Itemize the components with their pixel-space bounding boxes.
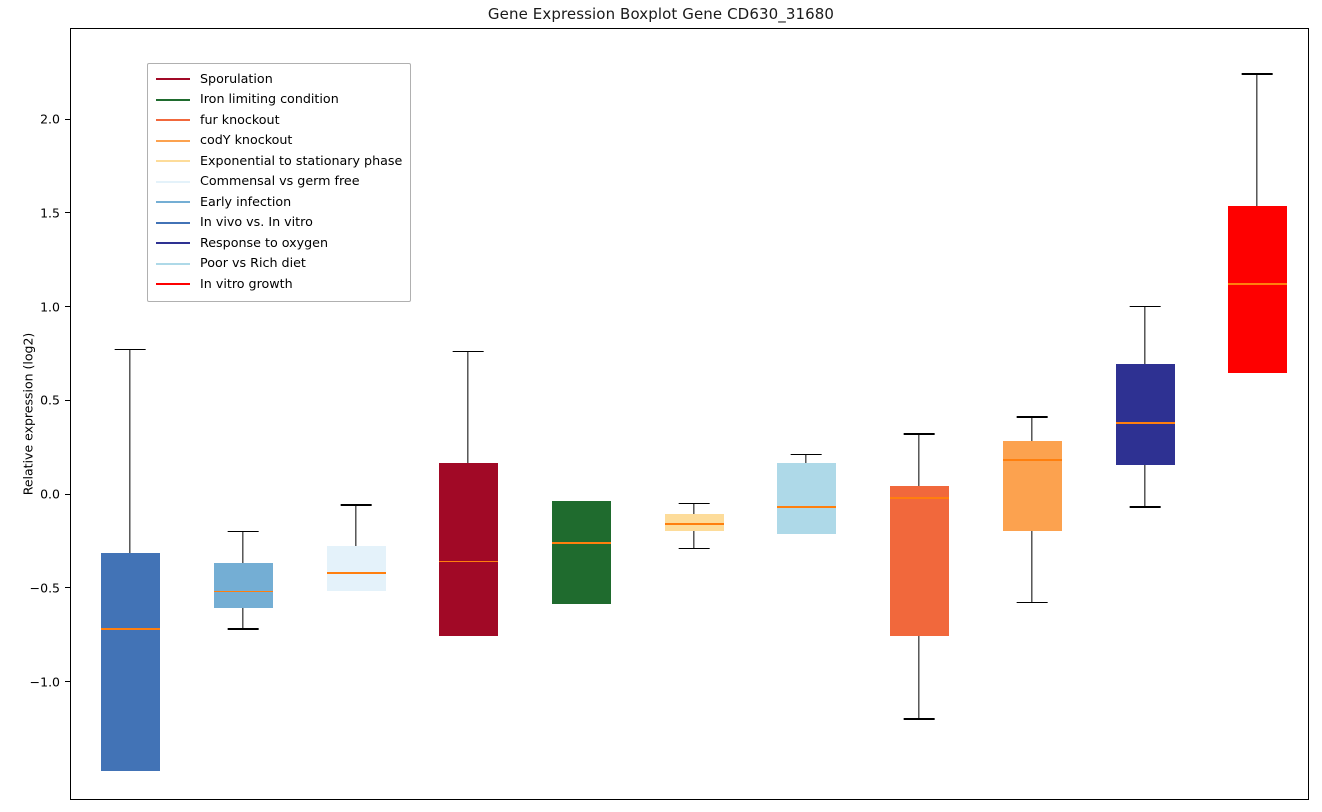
whisker-cap-upper xyxy=(1130,306,1161,308)
legend-label: In vitro growth xyxy=(200,278,293,291)
whisker-cap-upper xyxy=(453,351,484,353)
legend-item[interactable]: Sporulation xyxy=(156,69,402,90)
legend-label: Response to oxygen xyxy=(200,237,328,250)
boxplot-box[interactable] xyxy=(1003,29,1062,799)
whisker-cap-lower xyxy=(679,548,710,550)
box-rect xyxy=(777,463,836,534)
box-rect xyxy=(327,546,386,591)
legend-label: Sporulation xyxy=(200,73,273,86)
whisker-cap-upper xyxy=(228,531,259,533)
legend-color-swatch xyxy=(156,263,190,265)
y-tick-label: 2.0 xyxy=(40,112,60,127)
median-line xyxy=(214,591,273,593)
whisker-upper xyxy=(1256,73,1257,206)
whisker-cap-upper xyxy=(904,433,935,435)
whisker-upper xyxy=(1144,306,1145,364)
whisker-upper xyxy=(467,351,468,464)
whisker-upper xyxy=(129,349,130,553)
legend[interactable]: SporulationIron limiting conditionfur kn… xyxy=(147,63,411,302)
whisker-cap-lower xyxy=(1017,602,1048,604)
y-tick-label: 1.5 xyxy=(40,205,60,220)
legend-label: Exponential to stationary phase xyxy=(200,155,402,168)
median-line xyxy=(327,572,386,574)
whisker-cap-upper xyxy=(341,504,372,506)
whisker-lower xyxy=(1031,531,1032,602)
whisker-upper xyxy=(918,433,919,486)
median-line xyxy=(890,497,949,499)
whisker-cap-upper xyxy=(1242,73,1273,75)
legend-color-swatch xyxy=(156,119,190,121)
box-rect xyxy=(1116,364,1175,465)
legend-item[interactable]: fur knockout xyxy=(156,110,402,131)
legend-item[interactable]: codY knockout xyxy=(156,131,402,152)
legend-color-swatch xyxy=(156,140,190,142)
legend-item[interactable]: In vivo vs. In vitro xyxy=(156,213,402,234)
median-line xyxy=(1228,283,1287,285)
legend-label: Poor vs Rich diet xyxy=(200,257,306,270)
legend-item[interactable]: Poor vs Rich diet xyxy=(156,254,402,275)
box-rect xyxy=(214,563,273,608)
legend-item[interactable]: In vitro growth xyxy=(156,274,402,295)
legend-color-swatch xyxy=(156,160,190,162)
whisker-cap-upper xyxy=(679,503,710,505)
whisker-cap-upper xyxy=(1017,416,1048,418)
y-tick-label: 0.5 xyxy=(40,393,60,408)
legend-item[interactable]: Commensal vs germ free xyxy=(156,172,402,193)
legend-color-swatch xyxy=(156,283,190,285)
whisker-upper xyxy=(242,531,243,563)
legend-color-swatch xyxy=(156,242,190,244)
whisker-upper xyxy=(355,504,356,545)
median-line xyxy=(1116,422,1175,424)
legend-label: Early infection xyxy=(200,196,291,209)
whisker-lower xyxy=(693,531,694,548)
whisker-lower xyxy=(918,636,919,719)
legend-item[interactable]: Exponential to stationary phase xyxy=(156,151,402,172)
box-rect xyxy=(101,553,160,771)
y-axis-label: Relative expression (log2) xyxy=(21,333,36,496)
legend-label: In vivo vs. In vitro xyxy=(200,216,313,229)
legend-color-swatch xyxy=(156,181,190,183)
boxplot-figure: Gene Expression Boxplot Gene CD630_31680… xyxy=(0,0,1322,812)
legend-label: Commensal vs germ free xyxy=(200,175,360,188)
box-rect xyxy=(1003,441,1062,531)
median-line xyxy=(552,542,611,544)
boxplot-box[interactable] xyxy=(777,29,836,799)
legend-item[interactable]: Iron limiting condition xyxy=(156,90,402,111)
legend-color-swatch xyxy=(156,201,190,203)
median-line xyxy=(665,523,724,525)
whisker-cap-upper xyxy=(791,454,822,456)
box-rect xyxy=(552,501,611,604)
boxplot-box[interactable] xyxy=(1116,29,1175,799)
y-tick-label: 0.0 xyxy=(40,487,60,502)
boxplot-box[interactable] xyxy=(1228,29,1287,799)
median-line xyxy=(439,561,498,563)
legend-color-swatch xyxy=(156,78,190,80)
median-line xyxy=(101,628,160,630)
legend-item[interactable]: Response to oxygen xyxy=(156,233,402,254)
median-line xyxy=(1003,459,1062,461)
boxplot-box[interactable] xyxy=(890,29,949,799)
legend-color-swatch xyxy=(156,222,190,224)
whisker-cap-lower xyxy=(228,628,259,630)
legend-label: codY knockout xyxy=(200,134,292,147)
chart-title: Gene Expression Boxplot Gene CD630_31680 xyxy=(0,5,1322,23)
box-rect xyxy=(439,463,498,636)
box-rect xyxy=(665,514,724,531)
median-line xyxy=(777,506,836,508)
whisker-cap-upper xyxy=(115,349,146,351)
y-tick-label: 1.0 xyxy=(40,299,60,314)
boxplot-box[interactable] xyxy=(552,29,611,799)
whisker-lower xyxy=(1144,465,1145,506)
box-rect xyxy=(890,486,949,636)
whisker-cap-lower xyxy=(1130,506,1161,508)
whisker-lower xyxy=(242,608,243,629)
plot-frame: SporulationIron limiting conditionfur kn… xyxy=(70,28,1309,800)
y-axis-label-holder: Relative expression (log2) xyxy=(18,0,38,812)
whisker-upper xyxy=(693,503,694,514)
boxplot-box[interactable] xyxy=(665,29,724,799)
boxplot-box[interactable] xyxy=(439,29,498,799)
legend-label: Iron limiting condition xyxy=(200,93,339,106)
box-rect xyxy=(1228,206,1287,373)
legend-label: fur knockout xyxy=(200,114,280,127)
whisker-cap-lower xyxy=(904,718,935,720)
legend-item[interactable]: Early infection xyxy=(156,192,402,213)
legend-color-swatch xyxy=(156,99,190,101)
whisker-upper xyxy=(1031,416,1032,440)
